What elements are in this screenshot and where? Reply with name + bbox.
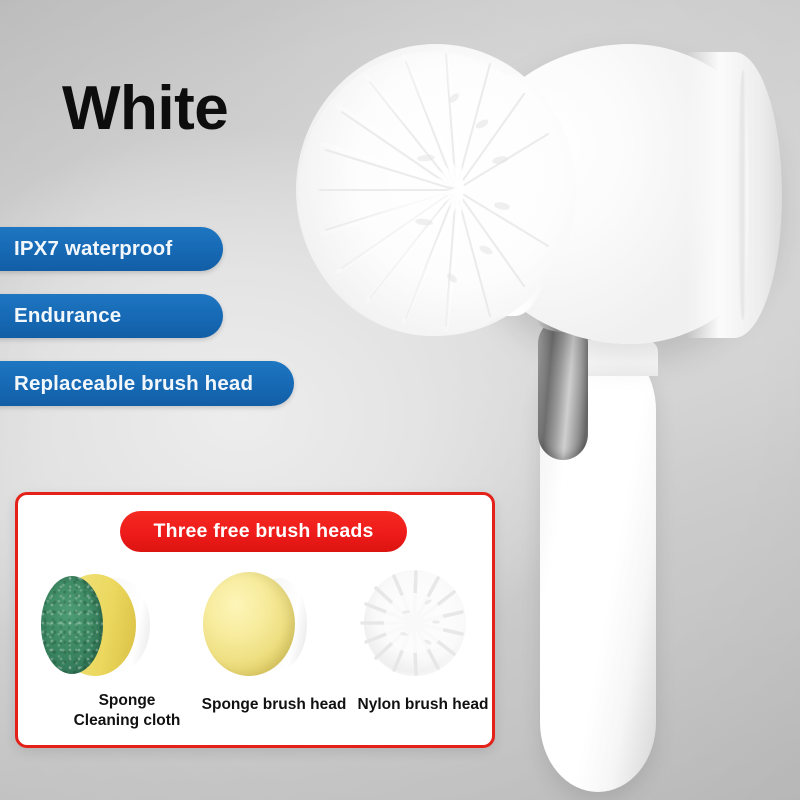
feature-badge-label: IPX7 waterproof (14, 237, 172, 261)
brush-head-item-sponge-cleaning-cloth (18, 559, 176, 689)
feature-badge-label: Replaceable brush head (14, 372, 253, 396)
sponge-yellow-body (203, 572, 295, 676)
chrome-trigger-button (538, 318, 588, 460)
sponge-brush-head-icon (199, 570, 311, 678)
nylon-brush-head-icon (354, 566, 472, 682)
feature-badge-label: Endurance (14, 304, 121, 328)
promo-box-free-brush-heads: Three free brush heads (15, 492, 495, 748)
brush-heads-row (18, 559, 492, 689)
page-title: White (62, 78, 228, 140)
motor-housing-rim (686, 52, 782, 338)
brush-head-item-sponge (176, 559, 334, 689)
sponge-cleaning-cloth-icon (38, 568, 156, 680)
nylon-bristles-icon (354, 566, 472, 687)
feature-badge-waterproof: IPX7 waterproof (0, 227, 223, 271)
brush-head-caption-nylon: Nylon brush head (348, 695, 498, 715)
product-feature-image: White IPX7 waterproof Endurance Replacea… (0, 0, 800, 800)
brush-head-caption-sponge: Sponge brush head (186, 695, 362, 715)
sponge-cloth-green-scrub-pad (41, 576, 103, 674)
motor-housing-seam (738, 70, 748, 320)
brush-head-disc-core (374, 72, 572, 320)
feature-badge-replaceable-head: Replaceable brush head (0, 361, 294, 406)
promo-badge: Three free brush heads (120, 511, 407, 552)
brush-head-item-nylon (334, 559, 492, 689)
handle-collar (586, 340, 658, 376)
feature-badge-endurance: Endurance (0, 294, 223, 338)
promo-badge-label: Three free brush heads (153, 520, 373, 543)
